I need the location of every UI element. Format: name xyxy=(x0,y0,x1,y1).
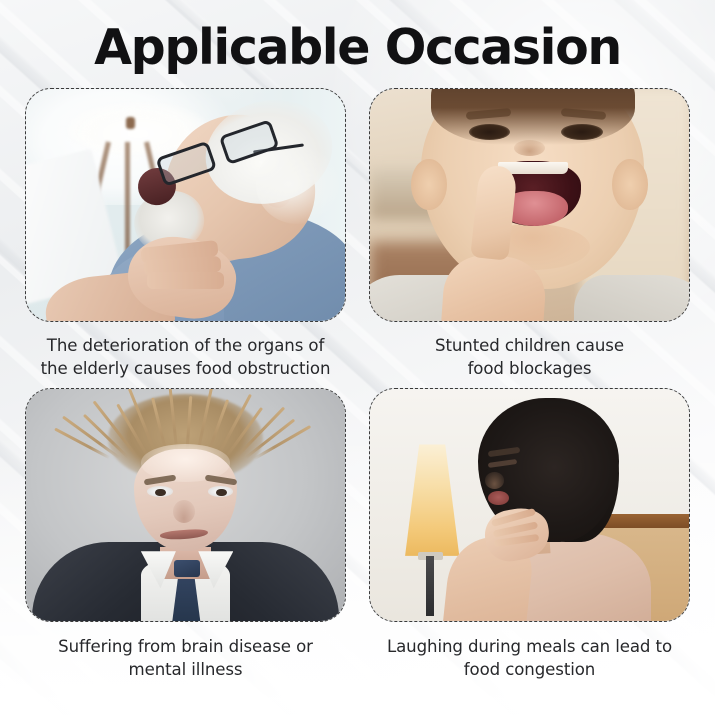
caption-elderly-line1: The deterioration of the organs of xyxy=(47,336,324,355)
caption-laughing-line1: Laughing during meals can lead to xyxy=(387,637,672,656)
caption-laughing: Laughing during meals can lead to food c… xyxy=(373,636,686,682)
caption-brain-disease: Suffering from brain disease or mental i… xyxy=(29,636,342,682)
caption-child: Stunted children cause food blockages xyxy=(373,335,686,381)
card-laughing: Laughing during meals can lead to food c… xyxy=(369,388,690,682)
caption-child-line2: food blockages xyxy=(468,359,592,378)
photo-woman-choking xyxy=(370,389,689,621)
photo-man-frizzy-hair xyxy=(26,389,345,621)
photo-elderly-man xyxy=(26,89,345,321)
page-title: Applicable Occasion xyxy=(0,22,715,73)
caption-elderly-line2: the elderly causes food obstruction xyxy=(41,359,331,378)
caption-brain-disease-line1: Suffering from brain disease or xyxy=(58,637,313,656)
occasion-grid: The deterioration of the organs of the e… xyxy=(25,88,690,682)
card-child: Stunted children cause food blockages xyxy=(369,88,690,381)
card-elderly: The deterioration of the organs of the e… xyxy=(25,88,346,381)
caption-child-line1: Stunted children cause xyxy=(435,336,624,355)
photo-child-open-mouth xyxy=(370,89,689,321)
caption-elderly: The deterioration of the organs of the e… xyxy=(29,335,342,381)
poster-root: Applicable Occasion xyxy=(0,0,715,715)
card-brain-disease: Suffering from brain disease or mental i… xyxy=(25,388,346,682)
photo-frame-laughing xyxy=(369,388,690,622)
photo-frame-brain-disease xyxy=(25,388,346,622)
photo-frame-elderly xyxy=(25,88,346,322)
photo-frame-child xyxy=(369,88,690,322)
caption-brain-disease-line2: mental illness xyxy=(129,660,243,679)
caption-laughing-line2: food congestion xyxy=(464,660,595,679)
